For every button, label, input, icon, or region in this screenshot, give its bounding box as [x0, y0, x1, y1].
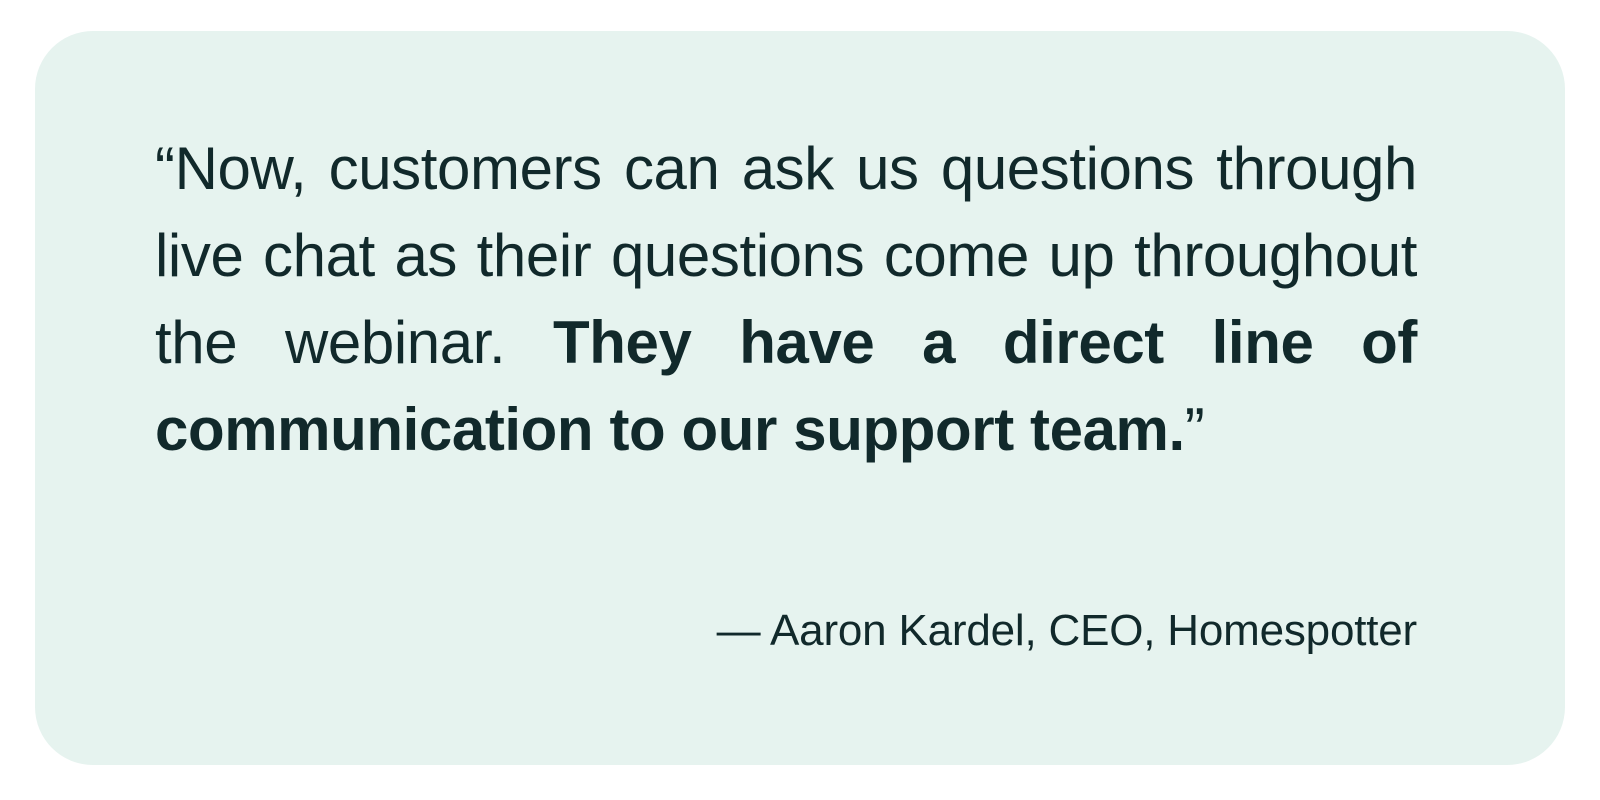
quote-text: “Now, customers can ask us questions thr… — [155, 125, 1417, 473]
testimonial-card: “Now, customers can ask us questions thr… — [35, 31, 1565, 765]
closing-quote-mark: ” — [1185, 396, 1205, 463]
attribution-block: — Aaron Kardel, CEO, Homespotter — [155, 601, 1417, 661]
opening-quote-mark: “ — [155, 135, 175, 202]
quote-block: “Now, customers can ask us questions thr… — [155, 125, 1417, 473]
attribution-text: — Aaron Kardel, CEO, Homespotter — [155, 601, 1417, 661]
